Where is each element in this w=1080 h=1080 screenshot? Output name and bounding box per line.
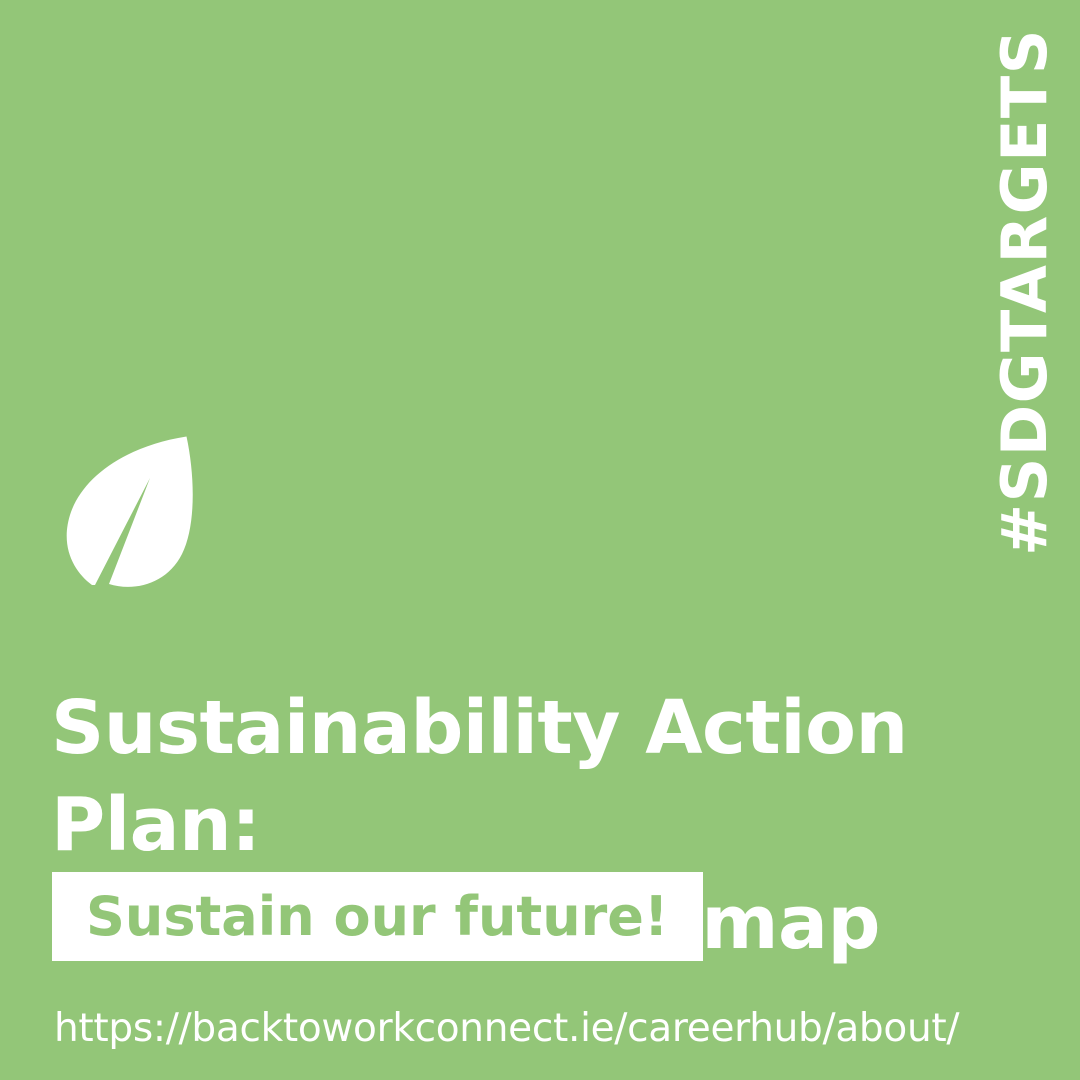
leaf-icon — [62, 432, 198, 590]
tagline-banner: Sustain our future! — [52, 872, 703, 961]
site-url[interactable]: https://backtoworkconnect.ie/careerhub/a… — [54, 1005, 959, 1054]
hashtag-label: #SDGTARGETS — [994, 28, 1056, 556]
tagline-text: Sustain our future! — [86, 890, 669, 944]
social-card: #SDGTARGETS Sustainability Action Plan: … — [0, 0, 1080, 1080]
headline-line-1: Sustainability Action Plan: — [51, 680, 1051, 875]
vertical-hashtag: #SDGTARGETS — [970, 92, 1080, 492]
